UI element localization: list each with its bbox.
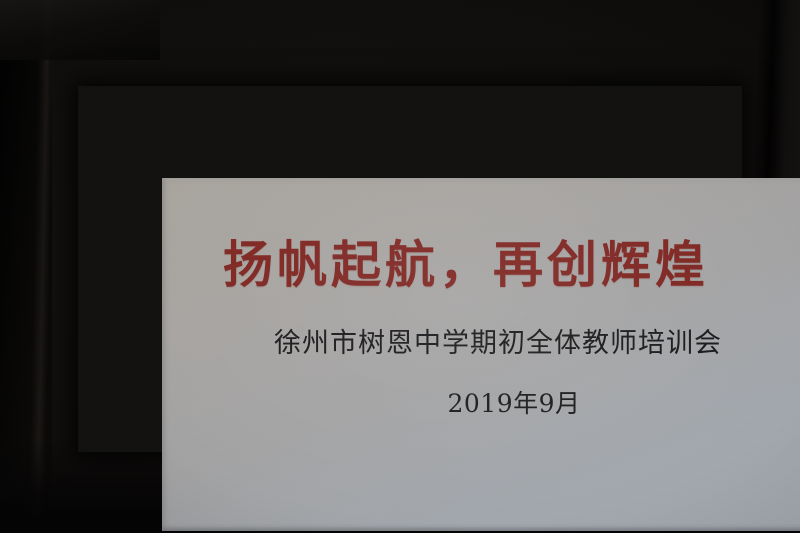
projection-screen-bezel: 扬帆起航，再创辉煌 徐州市树恩中学期初全体教师培训会 2019年9月 — [78, 86, 742, 452]
slide-content: 扬帆起航，再创辉煌 徐州市树恩中学期初全体教师培训会 2019年9月 — [162, 178, 800, 531]
projected-slide: 扬帆起航，再创辉煌 徐州市树恩中学期初全体教师培训会 2019年9月 — [162, 178, 800, 531]
slide-date: 2019年9月 — [188, 391, 800, 416]
projector-photo: 扬帆起航，再创辉煌 徐州市树恩中学期初全体教师培训会 2019年9月 — [0, 0, 800, 533]
slide-subtitle: 徐州市树恩中学期初全体教师培训会 — [172, 330, 800, 357]
curtain-top-left-fold — [0, 0, 160, 60]
slide-title: 扬帆起航，再创辉煌 — [162, 240, 792, 290]
